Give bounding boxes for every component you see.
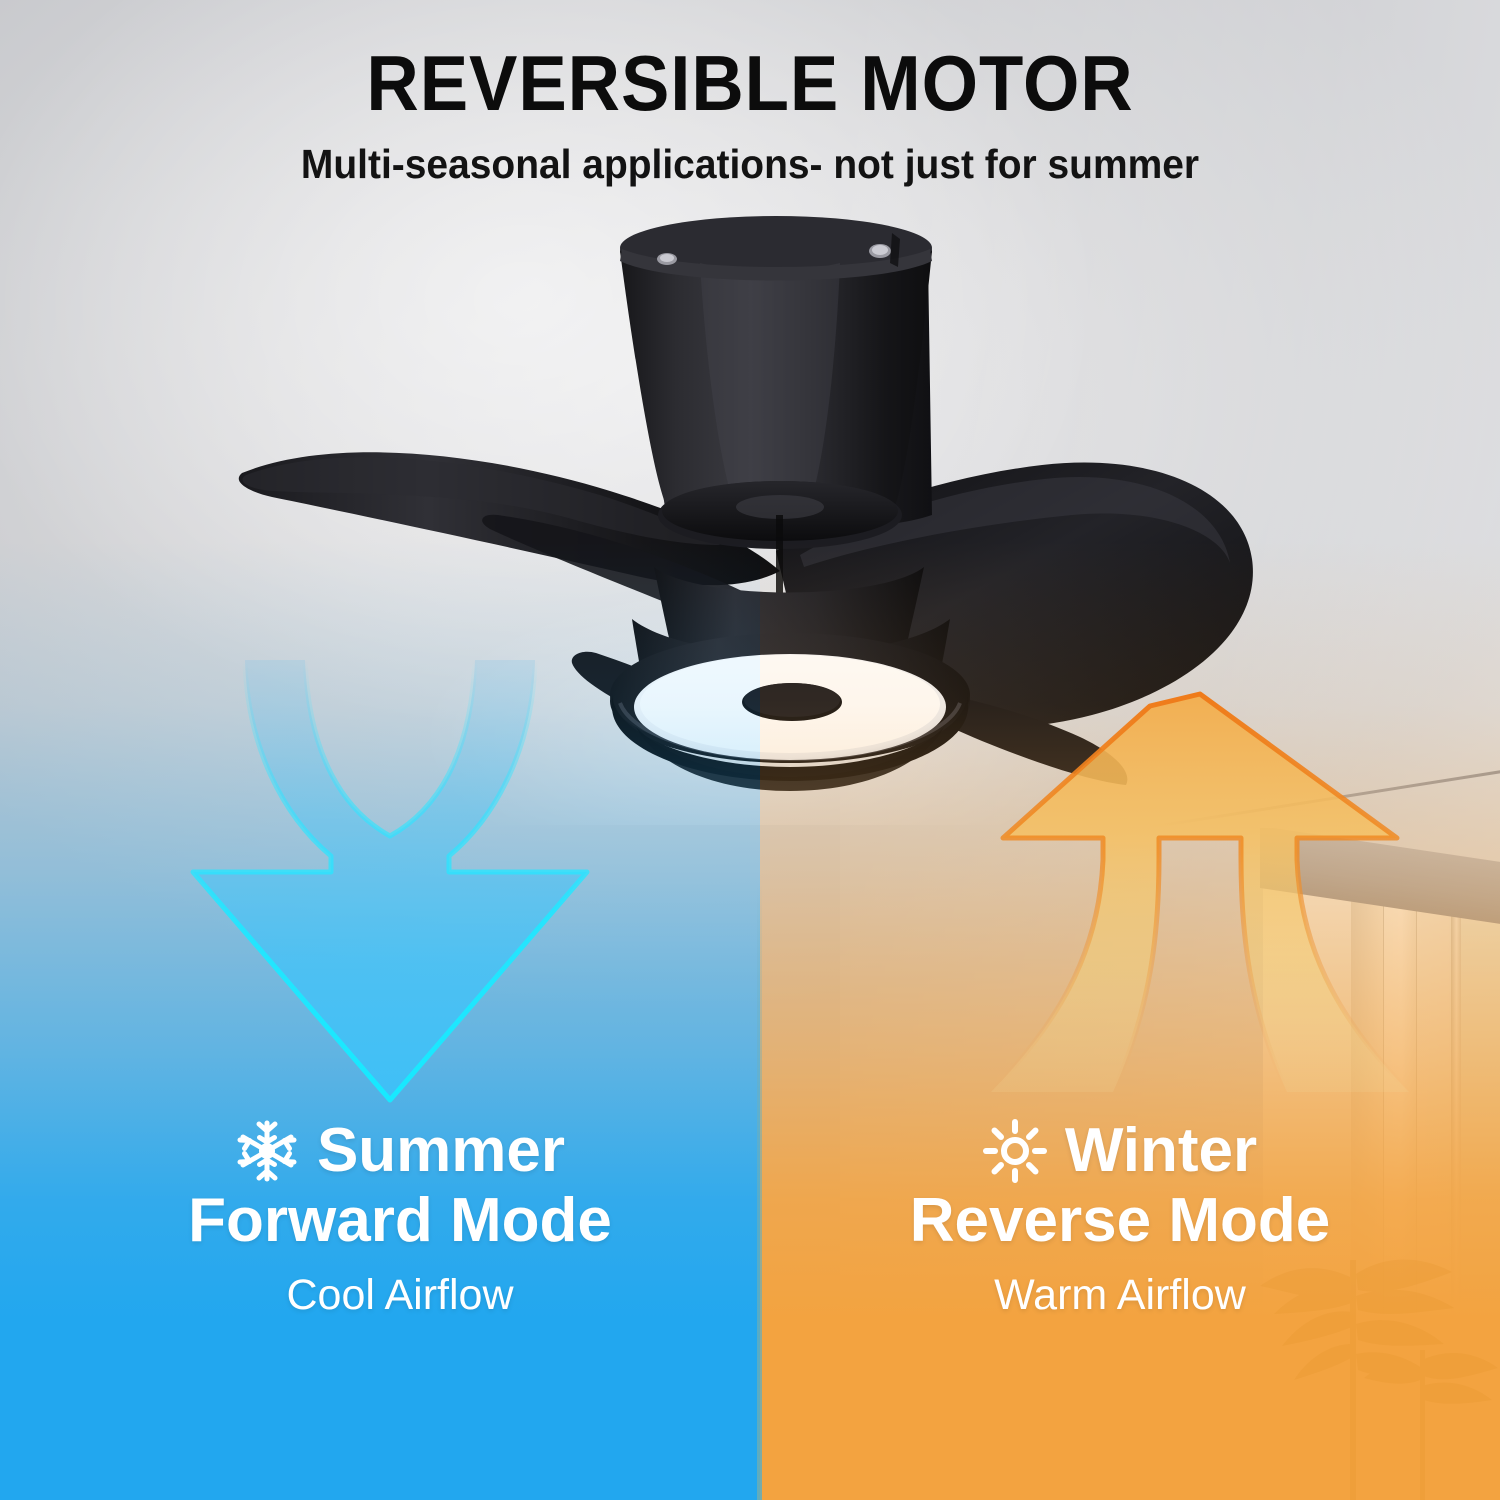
page-title: REVERSIBLE MOTOR xyxy=(53,44,1448,122)
ceiling-fan-product xyxy=(180,215,1320,825)
winter-mode-heading: Winter xyxy=(770,1118,1470,1184)
summer-season-label: Summer xyxy=(317,1118,565,1184)
summer-mode-label: Forward Mode xyxy=(40,1186,760,1255)
winter-airflow-label: Warm Airflow xyxy=(770,1269,1470,1323)
page-subtitle: Multi-seasonal applications- not just fo… xyxy=(38,140,1463,189)
winter-mode-block: Winter Reverse Mode Warm Airflow xyxy=(770,1118,1470,1323)
summer-mode-block: Summer Forward Mode Cool Airflow xyxy=(40,1118,760,1323)
summer-mode-heading: Summer xyxy=(40,1118,760,1184)
winter-mode-label: Reverse Mode xyxy=(770,1186,1470,1255)
sun-icon xyxy=(983,1119,1047,1183)
winter-season-label: Winter xyxy=(1065,1118,1257,1184)
snowflake-icon xyxy=(235,1119,299,1183)
summer-airflow-label: Cool Airflow xyxy=(40,1269,760,1323)
infographic-canvas: REVERSIBLE MOTOR Multi-seasonal applicat… xyxy=(0,0,1500,1500)
